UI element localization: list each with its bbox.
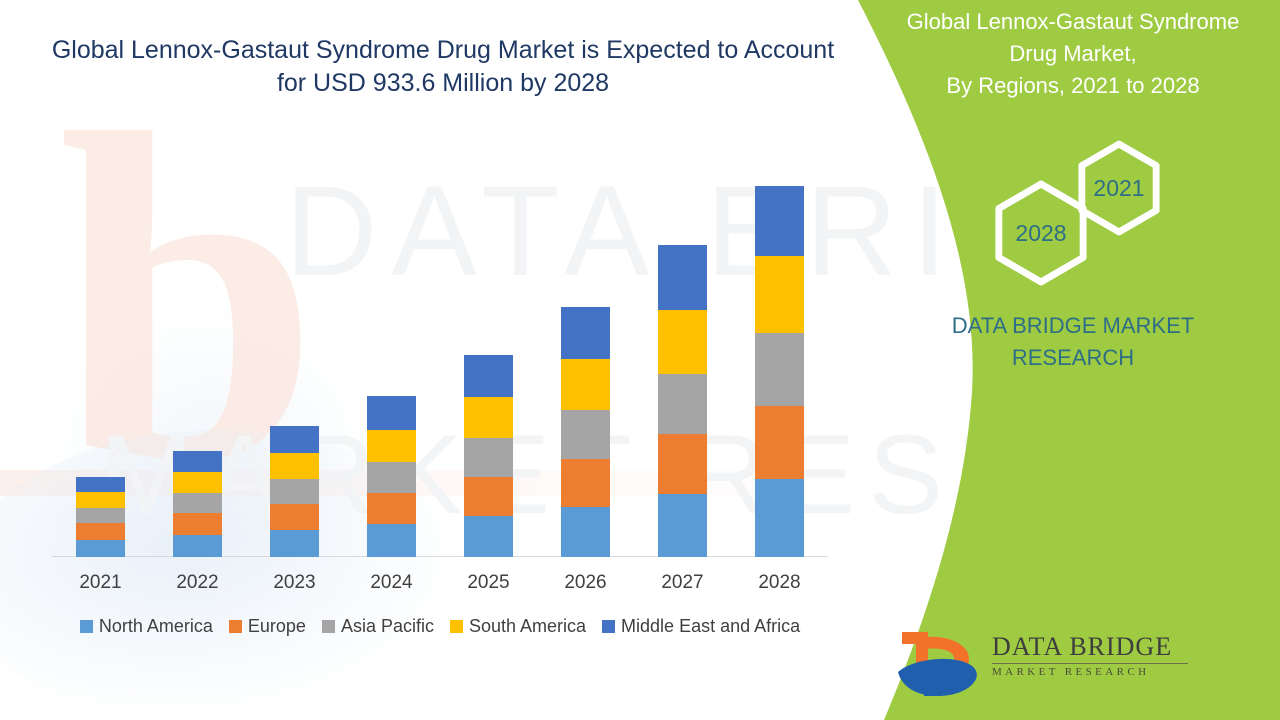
stacked-bar-chart — [52, 120, 828, 557]
x-axis-label-2024: 2024 — [343, 572, 440, 594]
bar-segment — [755, 256, 804, 333]
bar-segment — [270, 479, 319, 504]
logo-divider — [992, 663, 1188, 664]
x-axis-label-2023: 2023 — [246, 572, 343, 594]
hexagon-badge-start-year: 2021 — [1076, 140, 1162, 236]
bar-segment — [173, 493, 222, 513]
stacked-bar — [367, 396, 416, 557]
x-axis-label-2027: 2027 — [634, 572, 731, 594]
bar-segment — [561, 410, 610, 459]
panel-brand-line1: DATA BRIDGE MARKET — [880, 310, 1266, 342]
bar-segment — [658, 434, 707, 494]
bar-segment — [367, 462, 416, 493]
stacked-bar — [76, 477, 125, 557]
bar-segment — [561, 307, 610, 359]
bar-column-2025 — [440, 120, 537, 557]
panel-title-line3: By Regions, 2021 to 2028 — [880, 70, 1266, 102]
legend-swatch-icon — [450, 620, 463, 633]
bar-segment — [76, 540, 125, 557]
legend-label: Europe — [248, 616, 306, 637]
bar-segment — [755, 406, 804, 479]
bar-column-2023 — [246, 120, 343, 557]
bar-segment — [270, 426, 319, 453]
bar-segment — [367, 396, 416, 430]
bar-column-2026 — [537, 120, 634, 557]
bar-segment — [76, 477, 125, 492]
bar-segment — [173, 535, 222, 557]
bar-segment — [270, 530, 319, 557]
bar-segment — [173, 451, 222, 472]
stacked-bar — [173, 451, 222, 557]
page-title-line2: for USD 933.6 Million by 2028 — [48, 67, 838, 100]
page-title-line1: Global Lennox-Gastaut Syndrome Drug Mark… — [48, 34, 838, 67]
stacked-bar — [658, 245, 707, 557]
bar-segment — [464, 477, 513, 516]
bar-column-2021 — [52, 120, 149, 557]
page-title: Global Lennox-Gastaut Syndrome Drug Mark… — [48, 34, 838, 100]
hexagon-badges: 2028 2021 — [980, 140, 1200, 280]
logo-company-name: DATA BRIDGE — [992, 632, 1192, 662]
hexagon-end-year-label: 2028 — [1015, 220, 1066, 247]
panel-title-line2: Drug Market, — [880, 38, 1266, 70]
stacked-bar — [464, 355, 513, 557]
bar-column-2022 — [149, 120, 246, 557]
bar-column-2028 — [731, 120, 828, 557]
legend-item[interactable]: North America — [80, 616, 213, 637]
bar-column-2027 — [634, 120, 731, 557]
bar-segment — [561, 507, 610, 557]
chart-x-axis-labels: 20212022202320242025202620272028 — [52, 572, 828, 594]
x-axis-label-2022: 2022 — [149, 572, 246, 594]
bar-segment — [464, 355, 513, 397]
hexagon-start-year-label: 2021 — [1093, 175, 1144, 202]
legend-label: North America — [99, 616, 213, 637]
bar-segment — [658, 310, 707, 374]
stacked-bar — [270, 426, 319, 557]
legend-swatch-icon — [602, 620, 615, 633]
company-logo: DATA BRIDGE MARKET RESEARCH — [894, 618, 1194, 704]
legend-swatch-icon — [322, 620, 335, 633]
bar-segment — [367, 430, 416, 462]
bar-segment — [76, 508, 125, 523]
legend-label: Middle East and Africa — [621, 616, 800, 637]
logo-text-block: DATA BRIDGE MARKET RESEARCH — [992, 632, 1192, 678]
bar-segment — [270, 504, 319, 530]
bar-segment — [367, 524, 416, 557]
bar-segment — [658, 245, 707, 310]
bar-segment — [561, 459, 610, 507]
legend-item[interactable]: South America — [450, 616, 586, 637]
bar-segment — [755, 333, 804, 406]
bar-segment — [464, 516, 513, 557]
x-axis-label-2025: 2025 — [440, 572, 537, 594]
bar-segment — [755, 479, 804, 557]
infographic-page: b DATA BRIDGE MARKET RESEARCH Global Len… — [0, 0, 1280, 720]
bar-segment — [76, 523, 125, 540]
bar-segment — [367, 493, 416, 524]
chart-legend: North AmericaEuropeAsia PacificSouth Ame… — [52, 616, 828, 637]
bar-segment — [270, 453, 319, 479]
legend-swatch-icon — [80, 620, 93, 633]
bar-segment — [76, 492, 125, 508]
data-bridge-logo-mark-icon — [894, 622, 990, 702]
x-axis-label-2026: 2026 — [537, 572, 634, 594]
legend-item[interactable]: Asia Pacific — [322, 616, 434, 637]
bar-segment — [173, 472, 222, 493]
stacked-bar — [755, 186, 804, 557]
x-axis-label-2021: 2021 — [52, 572, 149, 594]
bar-segment — [658, 374, 707, 434]
legend-label: South America — [469, 616, 586, 637]
stacked-bar — [561, 307, 610, 557]
legend-swatch-icon — [229, 620, 242, 633]
legend-label: Asia Pacific — [341, 616, 434, 637]
bar-column-2024 — [343, 120, 440, 557]
legend-item[interactable]: Europe — [229, 616, 306, 637]
x-axis-label-2028: 2028 — [731, 572, 828, 594]
bar-segment — [658, 494, 707, 557]
bar-segment — [464, 397, 513, 438]
panel-title-line1: Global Lennox-Gastaut Syndrome — [880, 6, 1266, 38]
panel-title: Global Lennox-Gastaut Syndrome Drug Mark… — [880, 6, 1266, 102]
logo-tagline: MARKET RESEARCH — [992, 666, 1192, 678]
bar-segment — [755, 186, 804, 256]
bar-segment — [464, 438, 513, 477]
bar-segment — [173, 513, 222, 535]
panel-brand-text: DATA BRIDGE MARKET RESEARCH — [880, 310, 1266, 374]
bar-segment — [561, 359, 610, 410]
legend-item[interactable]: Middle East and Africa — [602, 616, 800, 637]
green-panel-content: Global Lennox-Gastaut Syndrome Drug Mark… — [880, 0, 1280, 720]
panel-brand-line2: RESEARCH — [880, 342, 1266, 374]
